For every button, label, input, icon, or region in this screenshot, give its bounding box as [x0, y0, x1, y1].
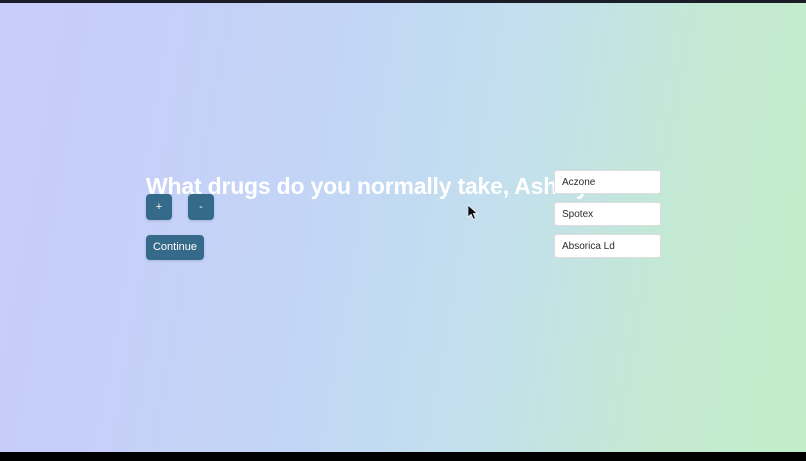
page-title: What drugs do you normally take, Ashley?: [146, 173, 602, 200]
drug-input-1[interactable]: [554, 170, 661, 194]
screen: What drugs do you normally take, Ashley?…: [0, 0, 806, 461]
drug-inputs-list: [554, 170, 661, 258]
remove-field-button[interactable]: -: [188, 194, 214, 220]
add-field-button[interactable]: +: [146, 194, 172, 220]
page-canvas: What drugs do you normally take, Ashley?…: [0, 3, 806, 452]
mouse-cursor-icon: [468, 205, 480, 221]
field-count-stepper: + -: [146, 194, 214, 220]
drug-input-2[interactable]: [554, 202, 661, 226]
drug-input-3[interactable]: [554, 234, 661, 258]
continue-button[interactable]: Continue: [146, 235, 204, 260]
window-bottom-edge: [0, 452, 806, 461]
